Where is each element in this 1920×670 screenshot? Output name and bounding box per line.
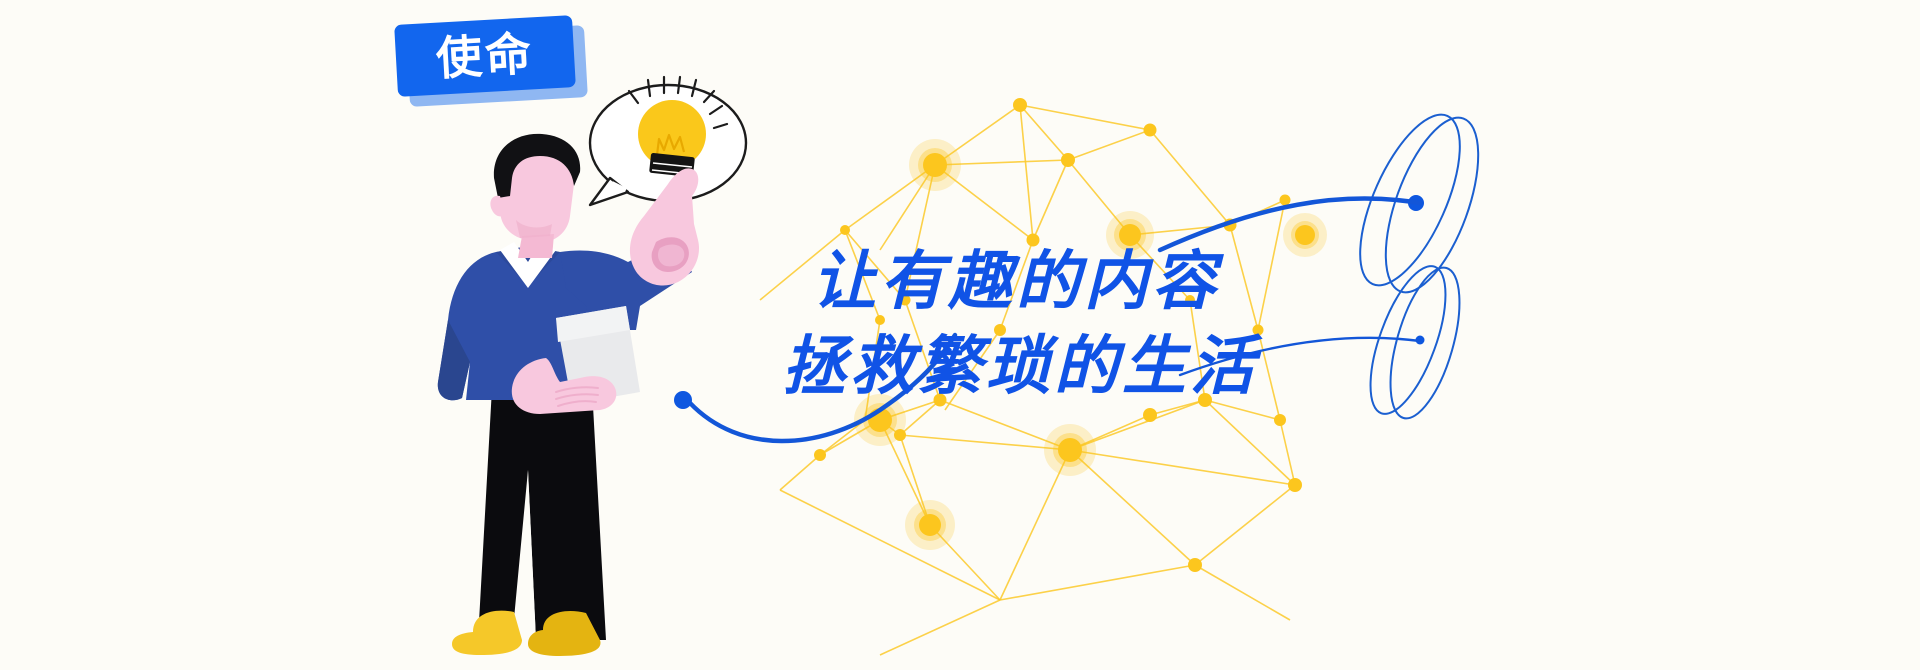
mission-badge: 使命	[392, 8, 592, 108]
mission-badge-label: 使命	[435, 30, 535, 81]
mission-badge-body: 使命	[394, 15, 576, 97]
badge-layer: 使命	[0, 0, 1920, 670]
mission-banner: 让有趣的内容 拯救繁琐的生活 使命	[0, 0, 1920, 670]
